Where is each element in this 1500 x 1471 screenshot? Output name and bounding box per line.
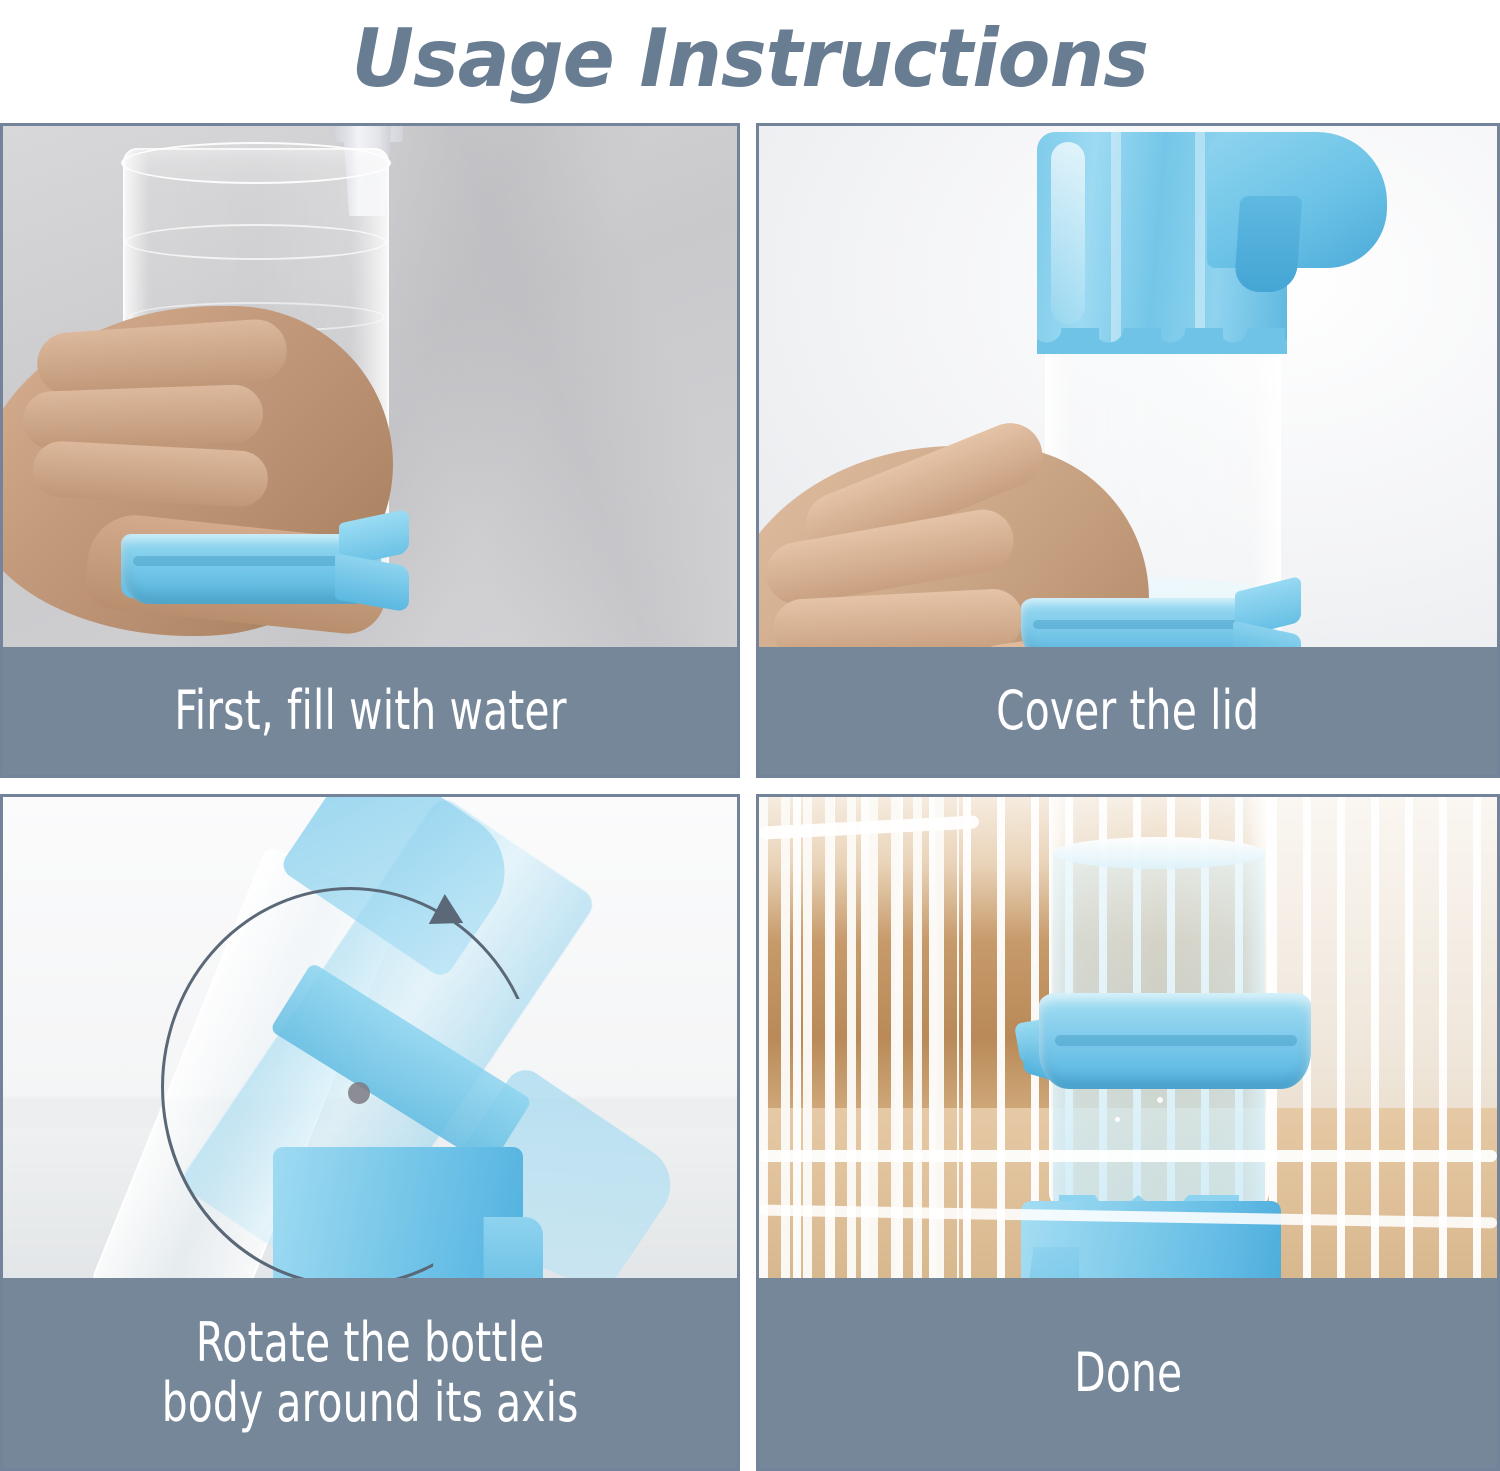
step-3-photo [3, 797, 737, 1278]
blue-clip-ring [121, 516, 407, 620]
page-title: Usage Instructions [352, 19, 1148, 99]
page-header: Usage Instructions [0, 0, 1500, 118]
step-panel-4: Done [756, 794, 1500, 1471]
step-panel-1: First, fill with water [0, 123, 740, 778]
clip-groove [133, 556, 369, 566]
lid-flute-right [1195, 132, 1205, 350]
step-panel-3: Rotate the bottle body around its axis [0, 794, 740, 1471]
step-3-caption-text: Rotate the bottle body around its axis [162, 1313, 579, 1434]
step-1-photo [3, 126, 737, 647]
rotation-pivot-dot [348, 1082, 370, 1104]
blue-lid [1037, 132, 1387, 350]
bottle-rim [121, 142, 391, 184]
usage-instructions-infographic: Usage Instructions [0, 0, 1500, 1471]
step-2-photo [759, 126, 1497, 647]
step-4-photo [759, 797, 1497, 1278]
step-2-caption-text: Cover the lid [996, 681, 1259, 741]
blue-clip-ring [1017, 979, 1317, 1099]
lid-flute-left [1111, 132, 1121, 350]
step-1-caption-text: First, fill with water [174, 681, 566, 741]
step-4-caption-text: Done [1074, 1343, 1182, 1403]
bottle-ring-upper [125, 224, 387, 260]
lid-highlight [1051, 142, 1085, 324]
lid-nozzle [1234, 196, 1303, 292]
water-bubble [1115, 1117, 1120, 1122]
step-1-caption-bar: First, fill with water [3, 647, 737, 775]
step-4-caption-bar: Done [759, 1278, 1497, 1468]
step-2-caption-bar: Cover the lid [759, 647, 1497, 775]
clip-groove [1055, 1035, 1297, 1046]
lid-scalloped-edge [1037, 328, 1287, 354]
steps-grid: First, fill with water [0, 123, 1500, 1471]
water-surface [1053, 837, 1265, 869]
step-3-caption-bar: Rotate the bottle body around its axis [3, 1278, 737, 1468]
clip-groove [1033, 620, 1259, 629]
finger-middle [22, 384, 264, 450]
blue-clip-ring [1021, 584, 1301, 647]
step-panel-2: Cover the lid [756, 123, 1500, 778]
cage-rail-bottom [759, 1150, 1497, 1162]
